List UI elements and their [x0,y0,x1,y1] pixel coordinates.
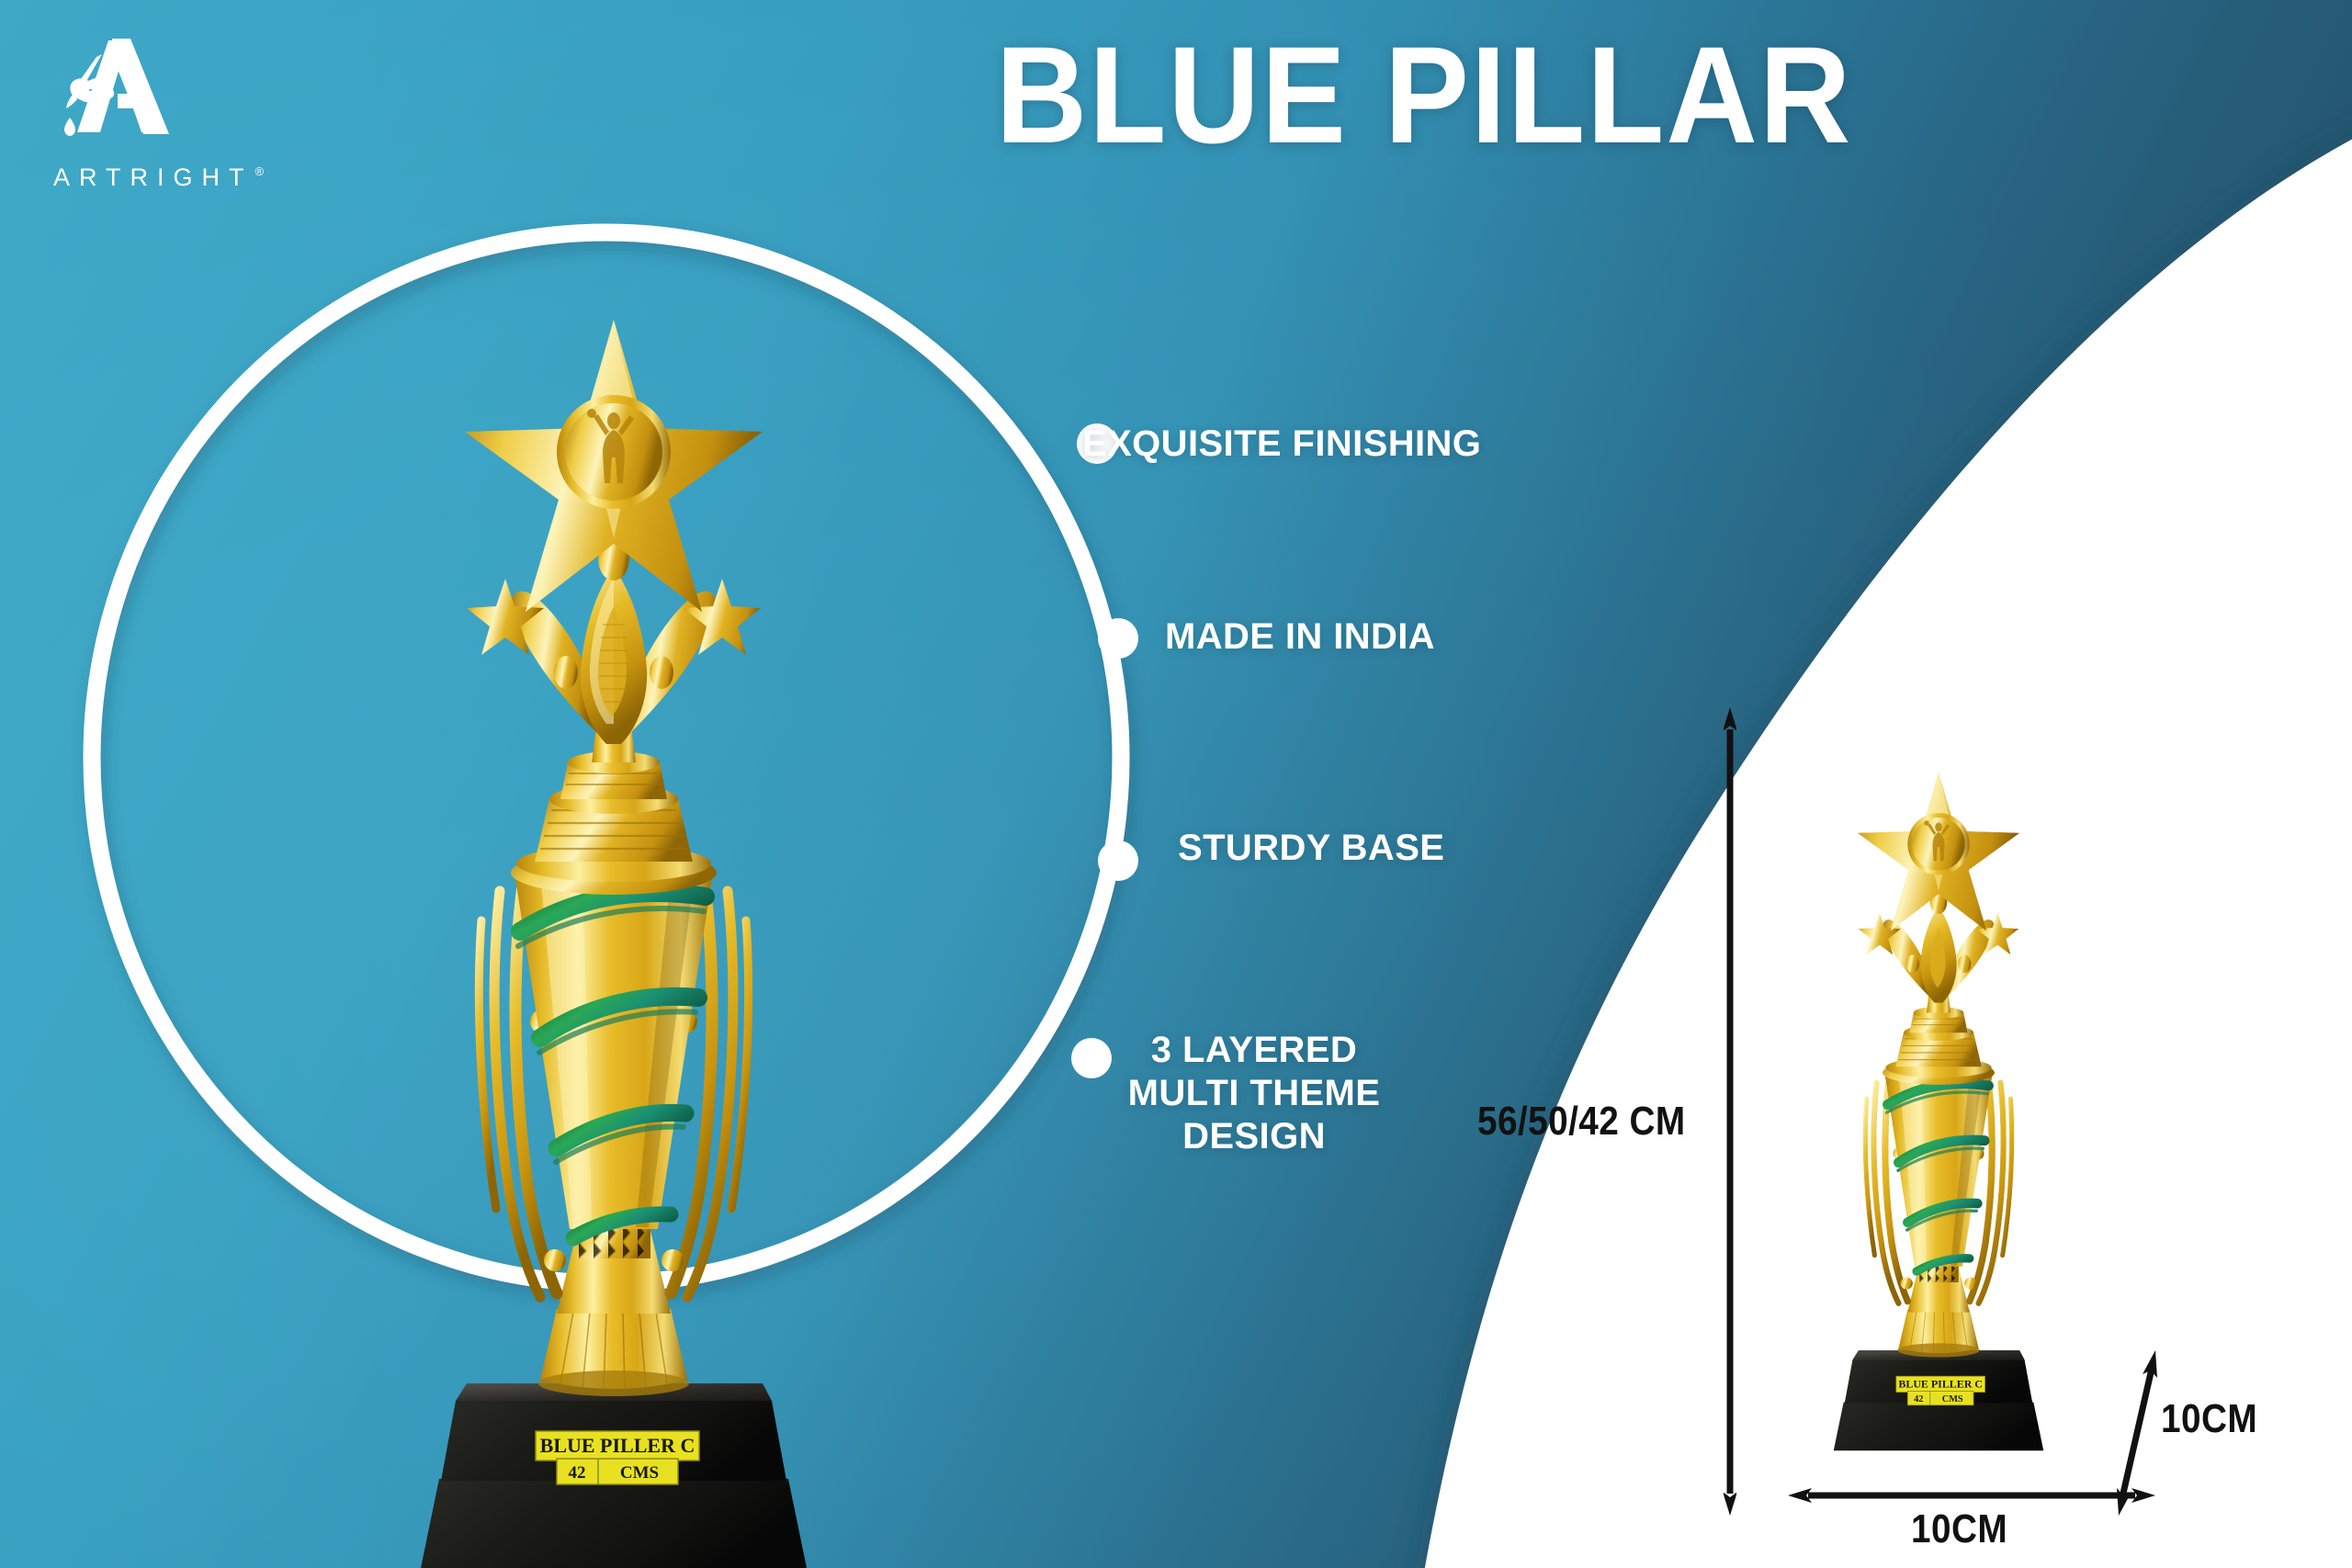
artright-a-brush-logo-icon [57,37,195,154]
white-curve-panel [1286,0,2352,1568]
brand-logo[interactable]: ARTRIGHT® [48,37,250,202]
base-plate-title-small: BLUE PILLER C [1898,1378,1983,1391]
registered-mark: ® [255,164,265,178]
dimension-product-image: BLUE PILLER C 42 CMS [1824,703,2053,1511]
depth-dimension-label: 10CM [2161,1396,2257,1442]
page-title: BLUE PILLAR [925,26,1923,164]
width-dimension-label: 10CM [1911,1506,2007,1552]
double-arrow-vertical-icon [1724,707,1736,1516]
base-plate-unit: CMS [620,1463,659,1483]
brand-name: ARTRIGHT® [48,164,250,192]
base-plate-unit-small: CMS [1942,1394,1963,1404]
brand-name-text: ARTRIGHT [53,164,254,192]
double-arrow-diagonal-icon [2113,1350,2159,1516]
ring-dot-marker-icon-1 [1098,618,1138,659]
feature-label-sturdy-base: STURDY BASE [1178,827,1444,870]
height-dimension-label: 56/50/42 CM [1477,1099,1686,1145]
base-plate-size: 42 [569,1463,586,1483]
ring-dot-marker-icon-2 [1098,840,1138,881]
product-base-plate-small: BLUE PILLER C 42 CMS [1896,1376,1985,1405]
base-plate-title: BLUE PILLER C [540,1434,695,1457]
feature-label-3-layered-multi-theme-design: 3 LAYERED MULTI THEME DESIGN [1089,1029,1419,1159]
trophy-figurine-group [465,320,763,744]
product-base-plate: BLUE PILLER C 42 CMS [536,1431,699,1484]
base-plate-size-small: 42 [1914,1394,1923,1404]
feature-label-exquisite-finishing: EXQUISITE FINISHING [1082,423,1481,466]
feature-label-made-in-india: MADE IN INDIA [1165,615,1435,659]
main-product-image: BLUE PILLER C 42 CMS [402,303,825,1568]
